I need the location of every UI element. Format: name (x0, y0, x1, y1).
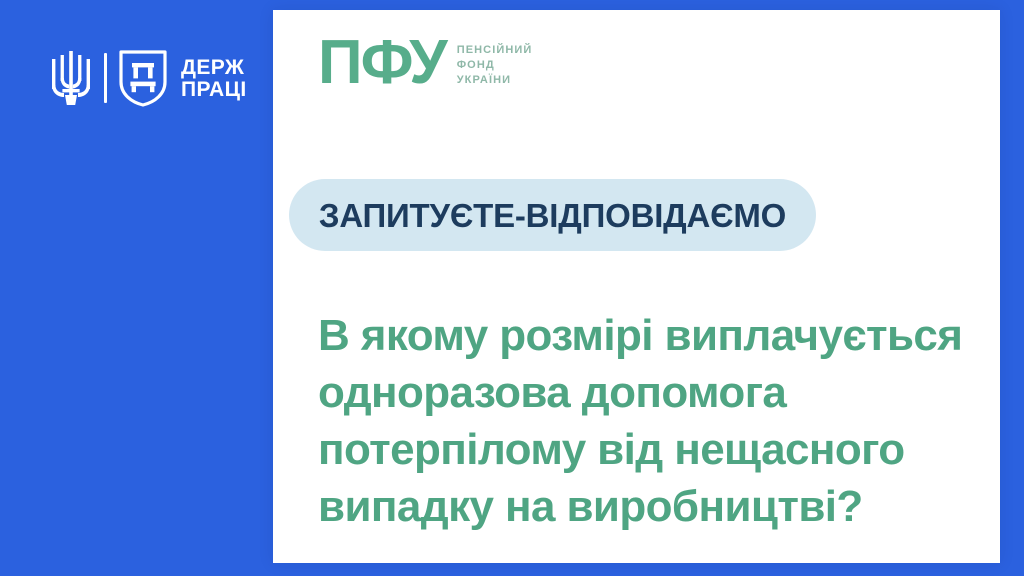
brand-wordmark-line-1: ДЕРЖ (181, 57, 247, 78)
question-block: В якому розмірі виплачується одноразова … (318, 307, 983, 535)
pfu-subtitle: ПЕНСІЙНИЙ ФОНД УКРАЇНИ (457, 40, 533, 86)
pfu-subtitle-line-3: УКРАЇНИ (457, 75, 533, 86)
brand-divider (104, 53, 107, 103)
derzhpratsi-shield-icon (118, 49, 168, 107)
brand-wordmark: ДЕРЖ ПРАЦІ (181, 57, 247, 100)
question-line-4: випадку на виробництві? (318, 478, 983, 535)
brand-lockup: ДЕРЖ ПРАЦІ (48, 47, 247, 109)
question-line-2: одноразова допомога (318, 364, 983, 421)
pfu-subtitle-line-1: ПЕНСІЙНИЙ (457, 45, 533, 56)
ukraine-trident-icon (48, 49, 94, 107)
poster-canvas: ДЕРЖ ПРАЦІ ПФУ ПЕНСІЙНИЙ ФОНД УКРАЇНИ ЗА… (0, 0, 1024, 576)
pfu-monogram: ПФУ (318, 32, 446, 94)
pfu-logo: ПФУ ПЕНСІЙНИЙ ФОНД УКРАЇНИ (318, 32, 532, 94)
question-line-3: потерпілому від нещасного (318, 421, 983, 478)
content-card: ПФУ ПЕНСІЙНИЙ ФОНД УКРАЇНИ ЗАПИТУЄТЕ-ВІД… (273, 10, 1000, 563)
question-line-1: В якому розмірі виплачується (318, 307, 983, 364)
pfu-subtitle-line-2: ФОНД (457, 60, 533, 71)
qa-badge: ЗАПИТУЄТЕ-ВІДПОВІДАЄМО (289, 179, 816, 251)
brand-wordmark-line-2: ПРАЦІ (181, 79, 247, 100)
qa-badge-label: ЗАПИТУЄТЕ-ВІДПОВІДАЄМО (319, 199, 786, 232)
